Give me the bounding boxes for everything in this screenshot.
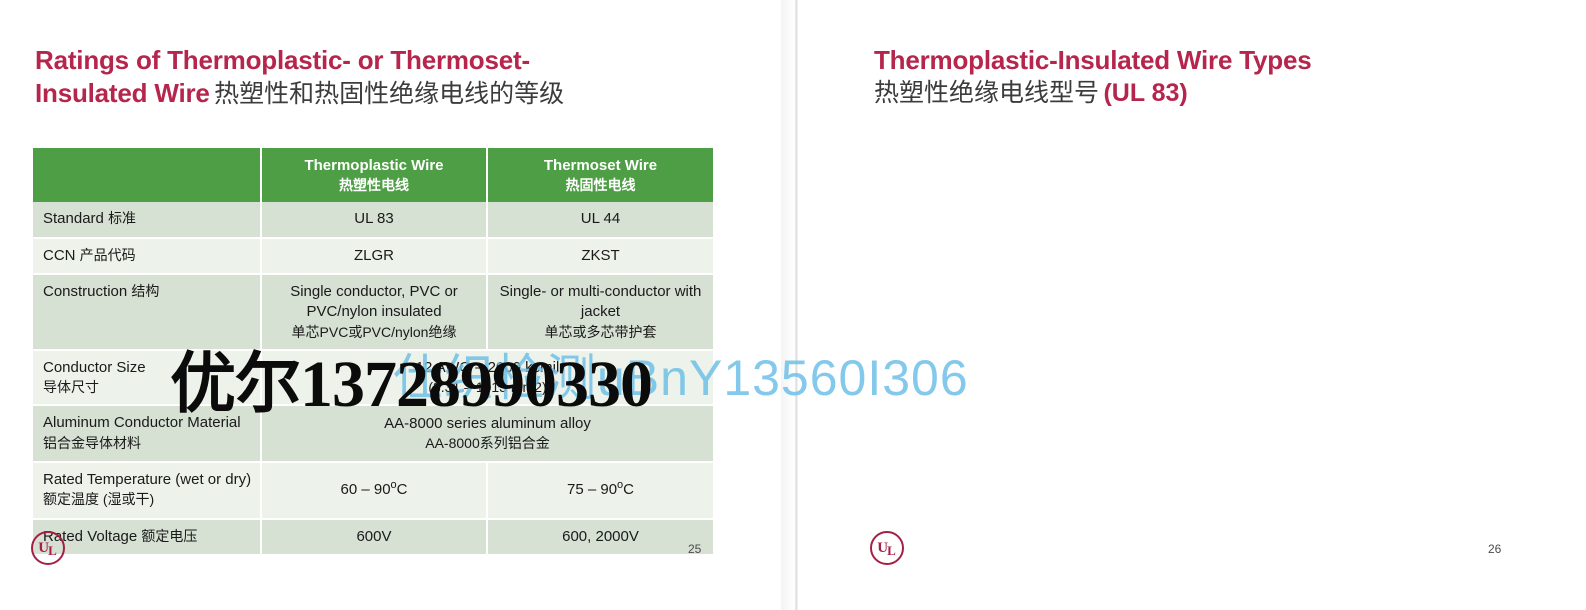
ul-logo-icon: UL	[870, 531, 904, 565]
value-cn: AA-8000系列铝合金	[270, 434, 705, 453]
header-cell-blank	[33, 148, 261, 202]
page-number-right: 26	[1488, 542, 1501, 556]
label-en: Rated Temperature (wet or dry)	[43, 471, 251, 488]
value-unit: C	[397, 481, 408, 498]
cell-ccn-thermoset: ZKST	[487, 238, 713, 274]
slide-left: Ratings of Thermoplastic- or Thermoset- …	[0, 0, 795, 610]
header-thermoplastic-en: Thermoplastic Wire	[268, 156, 480, 176]
value-en: Single- or multi-conductor with jacket	[496, 282, 705, 323]
label-en: Construction	[43, 283, 127, 300]
table-row: Construction 结构 Single conductor, PVC or…	[33, 274, 713, 350]
table-row: Rated Voltage 额定电压 600V 600, 2000V	[33, 519, 713, 555]
right-slide-title: Thermoplastic-Insulated Wire Types 热塑性绝缘…	[874, 44, 1311, 109]
label-en: Standard	[43, 210, 104, 227]
label-cn: 额定温度 (湿或干)	[43, 491, 154, 507]
left-title-line-1: Ratings of Thermoplastic- or Thermoset-	[35, 44, 564, 77]
row-label-standard: Standard 标准	[33, 202, 261, 237]
screenshot-root: Ratings of Thermoplastic- or Thermoset- …	[0, 0, 1586, 610]
label-en: CCN	[43, 247, 76, 264]
right-title-line2-cn: 热塑性绝缘电线型号	[874, 79, 1099, 107]
header-cell-thermoplastic: Thermoplastic Wire 热塑性电线	[261, 148, 487, 202]
label-cn: 铝合金导体材料	[43, 435, 141, 451]
table-row: Aluminum Conductor Material 铝合金导体材料 AA-8…	[33, 405, 713, 462]
header-thermoset-cn: 热固性电线	[494, 176, 707, 194]
value-unit: C	[623, 481, 634, 498]
value-range: 75 – 90	[567, 481, 617, 498]
row-label-aluminum-material: Aluminum Conductor Material 铝合金导体材料	[33, 405, 261, 462]
ratings-table: Thermoplastic Wire 热塑性电线 Thermoset Wire …	[33, 148, 713, 556]
label-en: Conductor Size	[43, 358, 252, 378]
row-label-rated-voltage: Rated Voltage 额定电压	[33, 519, 261, 555]
header-thermoset-en: Thermoset Wire	[494, 156, 707, 176]
value-en: Single conductor, PVC or PVC/nylon insul…	[270, 282, 478, 323]
right-title-line-1: Thermoplastic-Insulated Wire Types	[874, 44, 1311, 77]
ratings-table-header: Thermoplastic Wire 热塑性电线 Thermoset Wire …	[33, 148, 713, 202]
label-cn: 额定电压	[141, 528, 197, 544]
ul-logo-l: L	[887, 543, 896, 559]
value-range: 60 – 90	[340, 481, 390, 498]
left-title-line2-cn: 热塑性和热固性绝缘电线的等级	[214, 80, 564, 108]
value-cn: 单芯PVC或PVC/nylon绝缘	[270, 323, 478, 342]
right-title-line2-en: (UL 83)	[1103, 79, 1187, 107]
label-cn: 产品代码	[80, 247, 136, 263]
row-label-conductor-size: Conductor Size 导体尺寸	[33, 350, 261, 405]
ratings-table-body: Standard 标准 UL 83 UL 44 CCN 产品代码 ZLGR ZK…	[33, 202, 713, 555]
table-header-row: Thermoplastic Wire 热塑性电线 Thermoset Wire …	[33, 148, 713, 202]
cell-aluminum-material-span: AA-8000 series aluminum alloy AA-8000系列铝…	[261, 405, 713, 462]
value-en: 12 AWG – 2000 kcmil	[270, 358, 705, 378]
table-row: Conductor Size 导体尺寸 12 AWG – 2000 kcmil …	[33, 350, 713, 405]
cell-rated-voltage-thermoset: 600, 2000V	[487, 519, 713, 555]
page-divider-shadow	[781, 0, 795, 610]
cell-ccn-thermoplastic: ZLGR	[261, 238, 487, 274]
row-label-construction: Construction 结构	[33, 274, 261, 350]
header-thermoplastic-cn: 热塑性电线	[268, 176, 480, 194]
label-cn: 结构	[131, 283, 159, 299]
ul-logo-l: L	[48, 543, 57, 559]
cell-conductor-size-span: 12 AWG – 2000 kcmil (3.31 – 1013 mm2)	[261, 350, 713, 405]
cell-rated-voltage-thermoplastic: 600V	[261, 519, 487, 555]
value-cn: 单芯或多芯带护套	[496, 323, 705, 342]
cell-rated-temperature-thermoplastic: 60 – 90oC	[261, 462, 487, 519]
left-title-line2-en: Insulated Wire	[35, 78, 210, 108]
page-number-left: 25	[688, 542, 701, 556]
cell-construction-thermoset: Single- or multi-conductor with jacket 单…	[487, 274, 713, 350]
cell-rated-temperature-thermoset: 75 – 90oC	[487, 462, 713, 519]
right-title-line1-en: Thermoplastic-Insulated Wire Types	[874, 45, 1311, 75]
ul-logo-icon: UL	[31, 531, 65, 565]
cell-standard-thermoset: UL 44	[487, 202, 713, 237]
left-slide-title: Ratings of Thermoplastic- or Thermoset- …	[35, 44, 564, 111]
table-row: Rated Temperature (wet or dry) 额定温度 (湿或干…	[33, 462, 713, 519]
label-cn: 导体尺寸	[43, 378, 252, 397]
row-label-rated-temperature: Rated Temperature (wet or dry) 额定温度 (湿或干…	[33, 462, 261, 519]
row-label-ccn: CCN 产品代码	[33, 238, 261, 274]
right-title-line-2: 热塑性绝缘电线型号 (UL 83)	[874, 77, 1311, 109]
header-cell-thermoset: Thermoset Wire 热固性电线	[487, 148, 713, 202]
label-cn: 标准	[108, 210, 136, 226]
table-row: Standard 标准 UL 83 UL 44	[33, 202, 713, 237]
left-title-line-2: Insulated Wire 热塑性和热固性绝缘电线的等级	[35, 77, 564, 110]
cell-construction-thermoplastic: Single conductor, PVC or PVC/nylon insul…	[261, 274, 487, 350]
left-title-line1-en: Ratings of Thermoplastic- or Thermoset-	[35, 45, 530, 75]
slide-right: Thermoplastic-Insulated Wire Types 热塑性绝缘…	[798, 0, 1586, 610]
label-en: Aluminum Conductor Material	[43, 414, 241, 431]
value-en: AA-8000 series aluminum alloy	[270, 414, 705, 434]
table-row: CCN 产品代码 ZLGR ZKST	[33, 238, 713, 274]
value-cn: (3.31 – 1013 mm2)	[270, 378, 705, 397]
cell-standard-thermoplastic: UL 83	[261, 202, 487, 237]
